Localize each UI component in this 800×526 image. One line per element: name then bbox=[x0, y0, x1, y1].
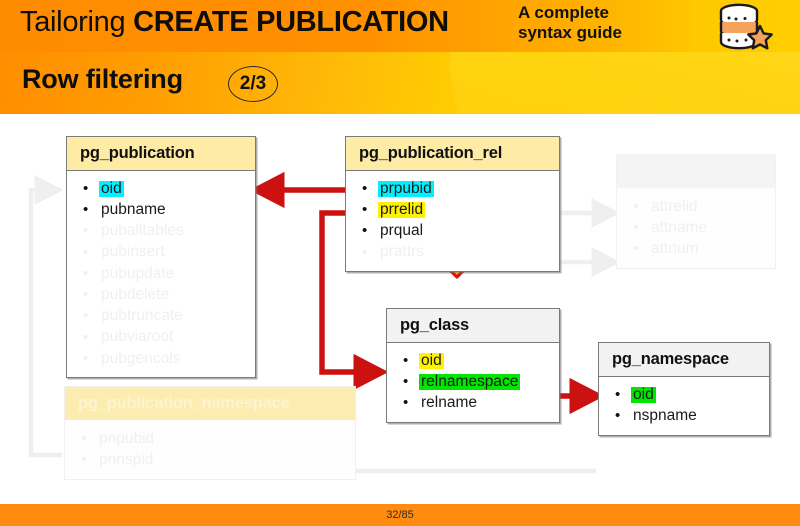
page-title-bold: CREATE PUBLICATION bbox=[133, 6, 449, 38]
field-name: oid bbox=[99, 181, 124, 197]
bullet-icon: • bbox=[83, 330, 99, 346]
database-star-icon bbox=[712, 2, 778, 52]
field-row: •pnpubid bbox=[65, 428, 355, 449]
field-row: •pubdelete bbox=[67, 284, 255, 305]
page-title: Tailoring CREATE PUBLICATION bbox=[20, 6, 449, 39]
table-header-pg_publication_namespace: pg_publication_namespace bbox=[65, 387, 355, 421]
bullet-icon: • bbox=[633, 241, 649, 257]
field-name: relnamespace bbox=[419, 374, 520, 390]
table-header-pg_attribute bbox=[617, 155, 775, 189]
field-name: pubinsert bbox=[99, 244, 167, 260]
field-row: •pubgencols bbox=[67, 348, 255, 369]
field-name: puballtables bbox=[99, 223, 186, 239]
table-box-pg_publication_namespace: pg_publication_namespace•pnpubid•pnnspid bbox=[64, 386, 356, 480]
field-name: pubtruncate bbox=[99, 308, 185, 324]
section-step-badge: 2/3 bbox=[228, 66, 278, 102]
bullet-icon: • bbox=[633, 199, 649, 215]
table-fields-pg_publication: •oid•pubname•puballtables•pubinsert•pubu… bbox=[67, 171, 255, 377]
field-row: •prattrs bbox=[346, 242, 559, 263]
bullet-icon: • bbox=[362, 181, 378, 197]
bullet-icon: • bbox=[81, 431, 97, 447]
field-name: oid bbox=[419, 353, 444, 369]
field-row: •prrelid bbox=[346, 199, 559, 220]
bullet-icon: • bbox=[362, 223, 378, 239]
field-row: •oid bbox=[599, 384, 769, 405]
rel-pnpubid-to-publication-oid bbox=[31, 190, 62, 455]
diagram-canvas: pg_publication•oid•pubname•puballtables•… bbox=[0, 114, 800, 504]
field-name: pubviaroot bbox=[99, 329, 175, 345]
bullet-icon: • bbox=[362, 202, 378, 218]
field-name: oid bbox=[631, 387, 656, 403]
field-name: attnum bbox=[649, 241, 700, 257]
title-subtitle-line1: A complete bbox=[518, 3, 703, 23]
field-name: prqual bbox=[378, 223, 425, 239]
field-name: pnnspid bbox=[97, 452, 155, 468]
field-row: •puballtables bbox=[67, 221, 255, 242]
bullet-icon: • bbox=[83, 308, 99, 324]
field-name: relname bbox=[419, 395, 479, 411]
table-box-pg_namespace: pg_namespace•oid•nspname bbox=[598, 342, 770, 436]
field-name: prrelid bbox=[378, 202, 425, 218]
field-row: •prqual bbox=[346, 221, 559, 242]
field-name: pubupdate bbox=[99, 266, 176, 282]
field-name: attrelid bbox=[649, 199, 700, 215]
bullet-icon: • bbox=[83, 266, 99, 282]
bullet-icon: • bbox=[83, 351, 99, 367]
table-header-pg_class: pg_class bbox=[387, 309, 559, 343]
bullet-icon: • bbox=[403, 353, 419, 369]
bullet-icon: • bbox=[403, 374, 419, 390]
band-swoosh-decoration bbox=[450, 52, 800, 114]
field-row: •pubname bbox=[67, 199, 255, 220]
table-header-pg_publication_rel: pg_publication_rel bbox=[346, 137, 559, 171]
bullet-icon: • bbox=[83, 223, 99, 239]
field-name: pubdelete bbox=[99, 287, 171, 303]
table-box-pg_class: pg_class•oid•relnamespace•relname bbox=[386, 308, 560, 423]
bullet-icon: • bbox=[83, 202, 99, 218]
field-row: •oid bbox=[67, 178, 255, 199]
bullet-icon: • bbox=[83, 245, 99, 261]
field-row: •pnnspid bbox=[65, 449, 355, 470]
bullet-icon: • bbox=[362, 245, 378, 261]
section-band: Row filtering 2/3 bbox=[0, 52, 800, 114]
field-name: pubgencols bbox=[99, 351, 182, 367]
table-fields-pg_publication_namespace: •pnpubid•pnnspid bbox=[65, 421, 355, 479]
field-row: •prpubid bbox=[346, 178, 559, 199]
table-fields-pg_attribute: •attrelid•attname•attnum bbox=[617, 189, 775, 268]
field-row: •oid bbox=[387, 350, 559, 371]
slide: Tailoring CREATE PUBLICATION A complete … bbox=[0, 0, 800, 526]
field-row: •relname bbox=[387, 393, 559, 414]
bullet-icon: • bbox=[615, 408, 631, 424]
field-row: •attnum bbox=[617, 239, 775, 260]
table-fields-pg_namespace: •oid•nspname bbox=[599, 377, 769, 435]
page-title-regular: Tailoring bbox=[20, 6, 133, 38]
section-title: Row filtering bbox=[22, 64, 183, 95]
field-row: •attname bbox=[617, 217, 775, 238]
bullet-icon: • bbox=[615, 387, 631, 403]
table-header-pg_namespace: pg_namespace bbox=[599, 343, 769, 377]
table-box-pg_attribute: •attrelid•attname•attnum bbox=[616, 154, 776, 269]
field-row: •relnamespace bbox=[387, 371, 559, 392]
bullet-icon: • bbox=[83, 287, 99, 303]
bullet-icon: • bbox=[633, 220, 649, 236]
table-fields-pg_publication_rel: •prpubid•prrelid•prqual•prattrs bbox=[346, 171, 559, 271]
field-row: •pubupdate bbox=[67, 263, 255, 284]
field-row: •pubtruncate bbox=[67, 306, 255, 327]
title-subtitle: A complete syntax guide bbox=[518, 3, 703, 43]
field-name: pubname bbox=[99, 202, 168, 218]
field-row: •attrelid bbox=[617, 196, 775, 217]
field-row: •nspname bbox=[599, 405, 769, 426]
bullet-icon: • bbox=[83, 181, 99, 197]
field-name: prattrs bbox=[378, 244, 426, 260]
table-fields-pg_class: •oid•relnamespace•relname bbox=[387, 343, 559, 422]
table-box-pg_publication_rel: pg_publication_rel•prpubid•prrelid•prqua… bbox=[345, 136, 560, 272]
title-subtitle-line2: syntax guide bbox=[518, 23, 703, 43]
bullet-icon: • bbox=[81, 452, 97, 468]
table-box-pg_publication: pg_publication•oid•pubname•puballtables•… bbox=[66, 136, 256, 378]
field-name: attname bbox=[649, 220, 709, 236]
bullet-icon: • bbox=[403, 395, 419, 411]
field-row: •pubviaroot bbox=[67, 327, 255, 348]
field-row: •pubinsert bbox=[67, 242, 255, 263]
field-name: nspname bbox=[631, 408, 699, 424]
logo-zone bbox=[690, 0, 800, 52]
field-name: prpubid bbox=[378, 181, 434, 197]
title-bar: Tailoring CREATE PUBLICATION A complete … bbox=[0, 0, 800, 52]
table-header-pg_publication: pg_publication bbox=[67, 137, 255, 171]
field-name: pnpubid bbox=[97, 431, 156, 447]
footer-page-number: 32/85 bbox=[0, 504, 800, 526]
